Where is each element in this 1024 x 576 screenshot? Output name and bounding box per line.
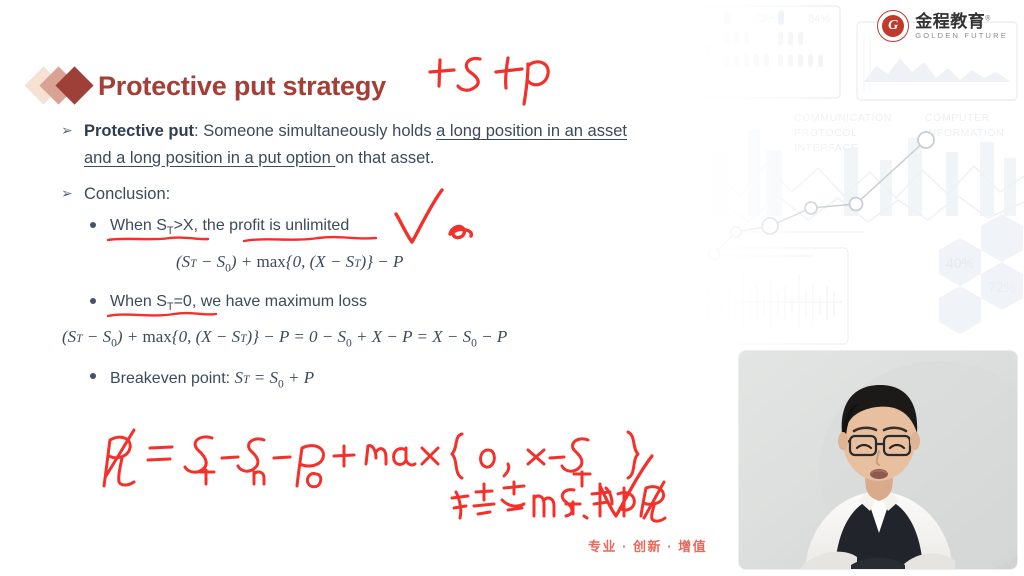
sub-bullet-max-loss: When ST=0, we have maximum loss (86, 290, 688, 316)
svg-text:COMMUNICATION: COMMUNICATION (794, 112, 892, 124)
title-row: Protective put strategy (30, 60, 386, 112)
sub1-subscript: T (167, 225, 174, 237)
logo-text-block: 金程教育® GOLDEN FUTURE (915, 13, 1008, 40)
slide-body: ➢ Protective put: Someone simultaneously… (58, 118, 688, 393)
bullet-conclusion: ➢ Conclusion: (58, 181, 688, 208)
arrow-bullet-icon-2: ➢ (61, 182, 73, 205)
svg-text:40%: 40% (946, 255, 974, 271)
svg-text:ES: ES (694, 112, 705, 124)
footer-tagline: 专业 · 创新 · 增值 (588, 536, 707, 555)
bullet1-underlined-2: and a long position in a put option (84, 149, 335, 167)
deco-fade-mask (694, 0, 1024, 348)
svg-text:INTERFACE: INTERFACE (794, 142, 858, 154)
dot-bullet-icon-3 (90, 373, 96, 379)
svg-text:TER: TER (694, 127, 713, 139)
svg-text:PROTOCOL: PROTOCOL (794, 127, 858, 139)
bullet1-underlined-1: a long position in an asset (436, 122, 627, 140)
logo-seal-icon: G (877, 10, 909, 42)
svg-text:COMPUTER: COMPUTER (925, 112, 990, 124)
annotation-underline-2 (104, 308, 244, 322)
annotation-check-1 (392, 186, 484, 263)
page-title: Protective put strategy (98, 71, 386, 102)
sub2-prefix: When S (110, 293, 167, 310)
equation-breakeven: ST = S0 + P (235, 368, 315, 387)
sub-bullet-breakeven: Breakeven point: ST = S0 + P (86, 365, 688, 393)
brand-logo: G 金程教育® GOLDEN FUTURE (877, 10, 1008, 42)
logo-name-en: GOLDEN FUTURE (915, 32, 1008, 40)
svg-text:47%: 47% (698, 13, 720, 25)
conclusion-label: Conclusion: (84, 185, 170, 203)
sub-bullet-profit-unlimited: When ST>X, the profit is unlimited (86, 214, 688, 240)
annotation-title-note (424, 48, 564, 112)
sub2-subscript: T (167, 301, 174, 313)
logo-name-cn: 金程教育® (915, 13, 1008, 30)
equation-profit-unlimited: (ST − S0) + max{0, (X − ST)} − P (58, 252, 688, 274)
sub1-underlined: profit is unlimited (229, 217, 349, 234)
slide-canvas: 47% 73% 84% ES TER COMMUNICATION PROTOCO… (0, 0, 1024, 576)
presenter-video-panel[interactable] (739, 351, 1017, 569)
annotation-underline-1 (104, 232, 404, 246)
logo-registered-mark: ® (985, 15, 991, 22)
annotation-bottom-formula (88, 418, 668, 538)
logo-mark-letter: G (878, 11, 908, 41)
dot-bullet-icon (90, 222, 96, 228)
sub1-mid: >X, the (174, 217, 230, 234)
svg-text:84%: 84% (808, 13, 830, 25)
sub1-prefix: When S (110, 217, 167, 234)
svg-text:INFORMATION: INFORMATION (925, 127, 1004, 139)
decorative-background: 47% 73% 84% ES TER COMMUNICATION PROTOCO… (694, 0, 1024, 348)
sub3-label: Breakeven point: (110, 370, 235, 387)
svg-text:72%: 72% (988, 279, 1016, 295)
bullet1-text-before: : Someone simultaneously holds (194, 122, 436, 140)
diamond-bullet-icon (30, 66, 96, 106)
bullet-protective-put: ➢ Protective put: Someone simultaneously… (58, 118, 688, 171)
bullet1-text-after: on that asset. (335, 149, 434, 167)
dot-bullet-icon-2 (90, 298, 96, 304)
equation-max-loss: (ST − S0) + max{0, (X − ST)} − P = 0 − S… (58, 327, 688, 349)
arrow-bullet-icon: ➢ (61, 119, 73, 142)
term-protective-put: Protective put (84, 122, 194, 140)
sub2-mid: =0, we have maximum loss (174, 293, 367, 310)
svg-text:73%: 73% (754, 13, 776, 25)
